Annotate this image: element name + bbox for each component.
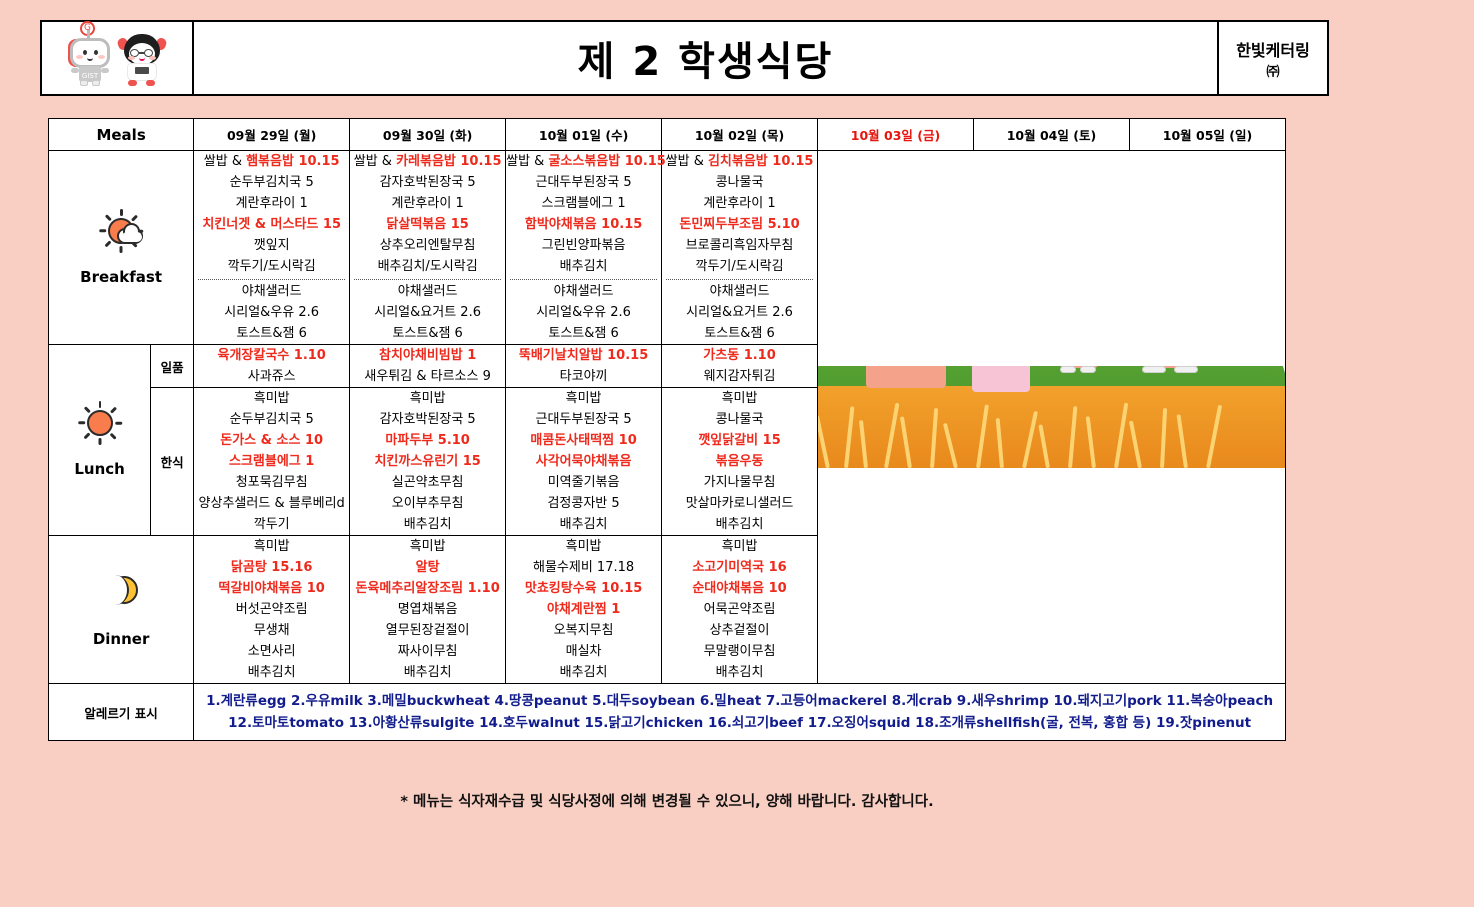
page-header: G GIST	[40, 20, 1329, 96]
col-header-day-3: 10월 02일 (목)	[662, 119, 818, 151]
holiday-panel: 10/3-10/9 미운영 ♥즐거운 명절 보내세요♥ Happy추석되세요!	[818, 151, 1286, 684]
col-header-day-4: 10월 03일 (금)	[818, 119, 974, 151]
allergy-label: 알레르기 표시	[49, 684, 194, 741]
cell-dinner-day-3: 흑미밥 소고기미역국 16 순대야채볶음 10 어묵곤약조림 상추겉절이 무말랭…	[662, 536, 818, 684]
hanbok-boy	[1042, 366, 1116, 402]
cell-breakfast-day-1: 쌀밥 & 카레볶음밥 10.15 감자호박된장국 5 계란후라이 1 닭살떡볶음…	[350, 151, 506, 345]
row-breakfast: Breakfast 쌀밥 & 햄볶음밥 10.15 순두부김치국 5 계란후라이…	[49, 151, 1286, 345]
weekly-menu-table: Meals 09월 29일 (월) 09월 30일 (화) 10월 01일 (수…	[48, 118, 1286, 741]
footer-note: * 메뉴는 식자재수급 및 식당사정에 의해 변경될 수 있으니, 양해 바랍니…	[48, 790, 1286, 811]
hanbok-mother	[854, 366, 962, 402]
page-title: 제 2 학생식당	[194, 22, 1217, 94]
cell-lunch-korean-day-0: 흑미밥 순두부김치국 5 돈가스 & 소스 10 스크램블에그 1 청포묵김무침…	[194, 388, 350, 536]
cell-dinner-day-1: 흑미밥 알탕 돈육메추리알장조림 1.10 명엽채볶음 열무된장겉절이 짜사이무…	[350, 536, 506, 684]
col-header-meals: Meals	[49, 119, 194, 151]
cell-dinner-day-0: 흑미밥 닭곰탕 15.16 떡갈비야채볶음 10 버섯곤약조림 무생채 소면사리…	[194, 536, 350, 684]
gist-girl-mascot-icon	[118, 30, 166, 86]
sun-behind-cloud-icon	[97, 210, 145, 252]
cell-lunch-korean-day-2: 흑미밥 근대두부된장국 5 매콤돈사태떡찜 10 사각어묵야채볶음 미역줄기볶음…	[506, 388, 662, 536]
sub-label-korean: 한식	[151, 388, 194, 536]
cell-dinner-day-2: 흑미밥 해물수제비 17.18 맛쵸킹탕수육 10.15 야채계란찜 1 오복지…	[506, 536, 662, 684]
col-header-day-2: 10월 01일 (수)	[506, 119, 662, 151]
hanbok-girl	[964, 366, 1038, 402]
page-title-text: 제 2 학생식당	[578, 29, 834, 87]
caterer-name: 한빛케터링 ㈜	[1217, 22, 1327, 94]
allergy-line-1: 1.계란류egg 2.우유milk 3.메밀buckwheat 4.땅콩pean…	[202, 690, 1277, 712]
col-header-day-6: 10월 05일 (일)	[1129, 119, 1285, 151]
moon-icon	[97, 572, 145, 614]
chuseok-family-illustration: Happy추석되세요!	[818, 366, 1285, 468]
cell-lunch-special-day-0: 육개장칼국수 1.10 사과쥬스	[194, 345, 350, 388]
meal-label-lunch: Lunch	[49, 345, 151, 536]
sub-label-special: 일품	[151, 345, 194, 388]
caterer-suffix: ㈜	[1266, 61, 1279, 80]
cell-lunch-special-day-3: 가츠동 1.10 웨지감자튀김	[662, 345, 818, 388]
cell-lunch-special-day-2: 뚝배기날치알밥 10.15 타코야끼	[506, 345, 662, 388]
menu-table-wrap: Meals 09월 29일 (월) 09월 30일 (화) 10월 01일 (수…	[48, 118, 1286, 741]
table-header-row: Meals 09월 29일 (월) 09월 30일 (화) 10월 01일 (수…	[49, 119, 1286, 151]
meal-label-breakfast: Breakfast	[49, 151, 194, 345]
row-allergy: 알레르기 표시 1.계란류egg 2.우유milk 3.메밀buckwheat …	[49, 684, 1286, 741]
cell-lunch-korean-day-1: 흑미밥 감자호박된장국 5 마파두부 5.10 치킨까스유린기 15 실곤약초무…	[350, 388, 506, 536]
caterer-name-text: 한빛케터링	[1236, 37, 1310, 61]
meal-label-dinner-text: Dinner	[93, 630, 150, 648]
hanbok-father	[1116, 366, 1234, 402]
meal-label-breakfast-text: Breakfast	[80, 268, 162, 286]
cell-lunch-special-day-1: 참치야채비빔밥 1 새우튀김 & 타르소스 9	[350, 345, 506, 388]
menu-page: G GIST	[0, 0, 1474, 907]
cell-lunch-korean-day-3: 흑미밥 콩나물국 깻잎닭갈비 15 볶음우동 가지나물무침 맛살마카로니샐러드 …	[662, 388, 818, 536]
cell-breakfast-day-0: 쌀밥 & 햄볶음밥 10.15 순두부김치국 5 계란후라이 1 치킨너겟 & …	[194, 151, 350, 345]
allergy-legend: 1.계란류egg 2.우유milk 3.메밀buckwheat 4.땅콩pean…	[194, 684, 1286, 741]
cell-breakfast-day-3: 쌀밥 & 김치볶음밥 10.15 콩나물국 계란후라이 1 돈민찌두부조림 5.…	[662, 151, 818, 345]
logo-cell: G GIST	[42, 22, 194, 94]
sun-icon	[76, 402, 124, 444]
col-header-day-5: 10월 04일 (토)	[973, 119, 1129, 151]
cell-breakfast-day-2: 쌀밥 & 굴소스볶음밥 10.15 근대두부된장국 5 스크램블에그 1 함박야…	[506, 151, 662, 345]
col-header-day-1: 09월 30일 (화)	[350, 119, 506, 151]
meal-label-lunch-text: Lunch	[74, 460, 125, 478]
allergy-line-2: 12.토마토tomato 13.아황산류sulgite 14.호두walnut …	[202, 712, 1277, 734]
gist-robot-mascot-icon: G GIST	[68, 30, 112, 86]
col-header-day-0: 09월 29일 (월)	[194, 119, 350, 151]
meal-label-dinner: Dinner	[49, 536, 194, 684]
